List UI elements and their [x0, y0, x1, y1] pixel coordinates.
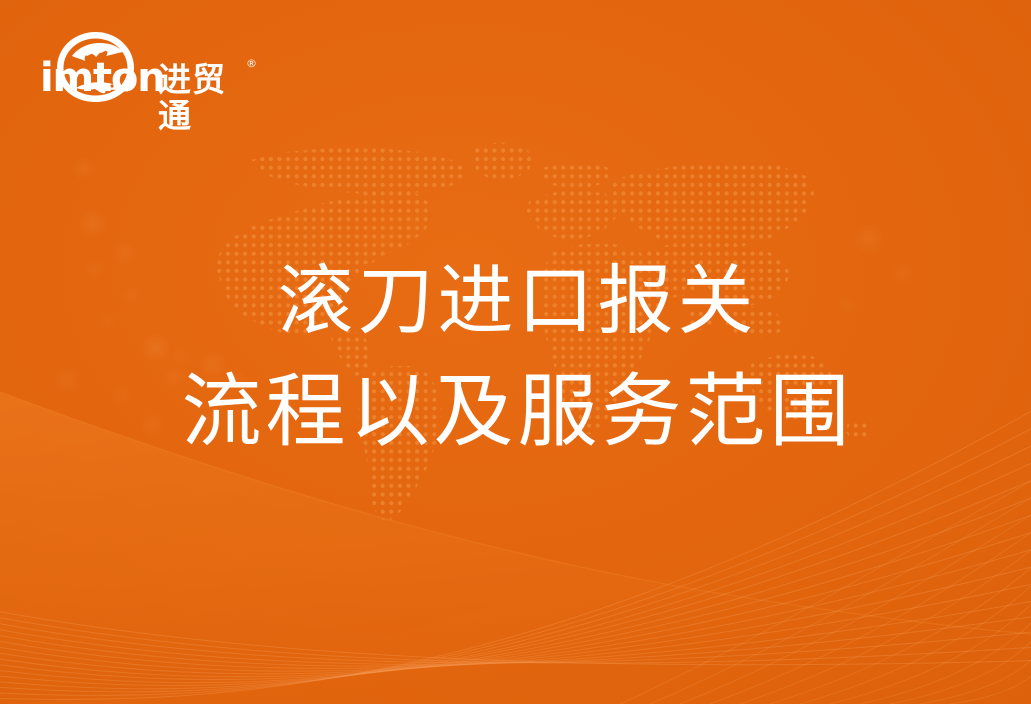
trademark-symbol: ® — [246, 58, 257, 69]
headline-line-1: 滚刀进口报关 — [0, 252, 1031, 350]
promo-banner: imton 进贸通 ® 滚刀进口报关 流程以及服务范围 — [0, 0, 1031, 704]
logo-wordmark: imton — [40, 56, 153, 100]
headline-line-2: 流程以及服务范围 — [0, 360, 1031, 464]
logo-chinese-name: 进贸通 — [158, 62, 253, 134]
page-title: 滚刀进口报关 流程以及服务范围 — [0, 252, 1031, 464]
imton-logo[interactable]: imton 进贸通 ® — [38, 26, 253, 106]
